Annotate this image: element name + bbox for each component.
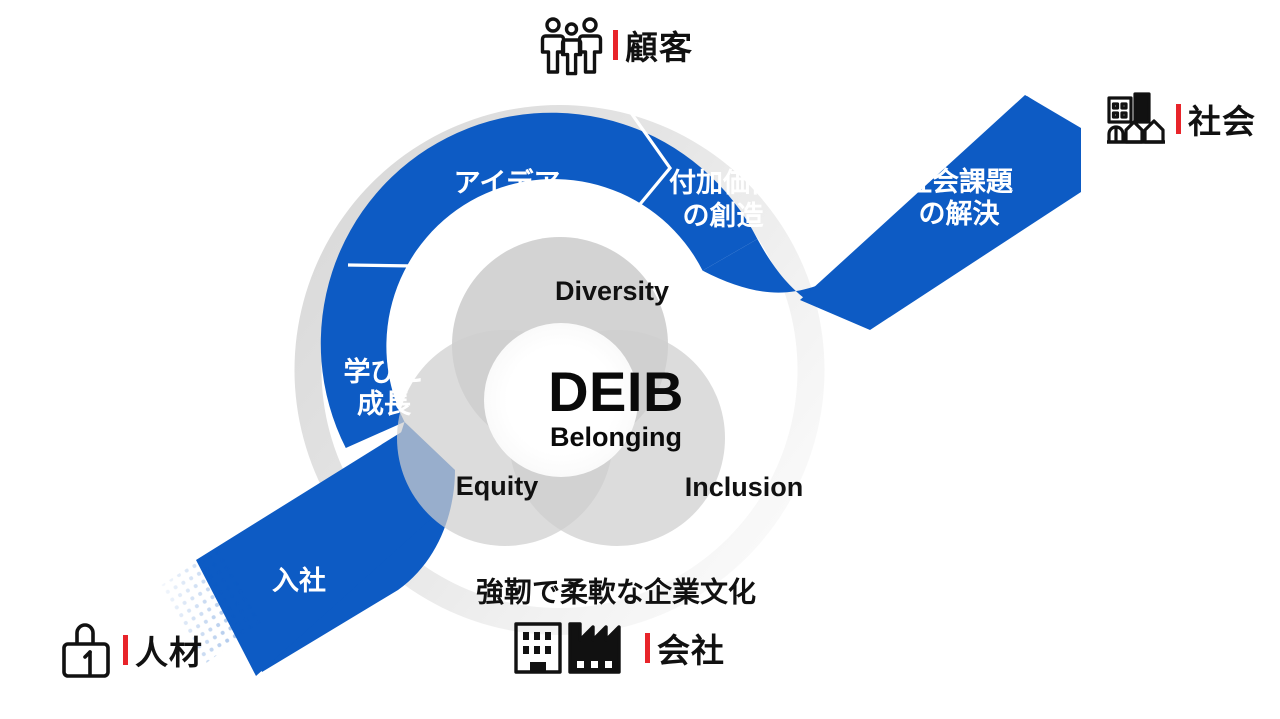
flow-label-shakai-2: の解決 xyxy=(919,199,1001,229)
stakeholder-label-kokyaku: 顧客 xyxy=(625,21,693,69)
flow-label-shakai-1: 社会課題 xyxy=(905,166,1014,197)
diagram-graphics: 入社 学びと 成長 アイデア 提案 付加価値 の創造 社会課題 の解決 Dive… xyxy=(0,0,1280,719)
red-accent-bar xyxy=(613,30,618,60)
flow-label-manabi-2: 成長 xyxy=(357,389,412,419)
flow-label-fukakachi-2: の創造 xyxy=(683,201,764,231)
red-accent-bar xyxy=(123,635,128,665)
stakeholder-jinzai: 人材 xyxy=(60,622,203,678)
people-group-icon xyxy=(540,14,604,76)
stakeholder-label-shakai: 社会 xyxy=(1188,95,1256,143)
diagram-canvas: 入社 学びと 成長 アイデア 提案 付加価値 の創造 社会課題 の解決 Dive… xyxy=(0,0,1280,719)
building-factory-icon xyxy=(512,620,636,676)
stakeholder-label-jinzai: 人材 xyxy=(135,626,203,674)
flow-label-fukakachi-1: 付加価値 xyxy=(669,168,777,198)
flow-label-nyusha: 入社 xyxy=(272,565,326,596)
stakeholder-kaisha: 会社 xyxy=(512,620,725,676)
venn-label-equity: Equity xyxy=(456,471,539,501)
red-accent-bar xyxy=(645,633,650,663)
red-accent-bar xyxy=(1176,104,1181,134)
flow-label-manabi-1: 学びと xyxy=(344,356,425,387)
core-title-deib: DEIB xyxy=(548,360,684,423)
core-subtitle-belonging: Belonging xyxy=(550,422,682,452)
person-icon xyxy=(60,622,114,678)
culture-caption: 強靭で柔軟な企業文化 xyxy=(476,575,756,607)
stakeholder-label-kaisha: 会社 xyxy=(657,624,725,672)
flow-label-idea-2: 提案 xyxy=(480,200,535,231)
stakeholder-shakai: 社会 xyxy=(1105,92,1256,146)
venn-label-diversity: Diversity xyxy=(555,276,669,306)
stakeholder-kokyaku: 顧客 xyxy=(540,14,693,76)
flow-label-idea-1: アイデア xyxy=(454,167,561,198)
cityscape-icon xyxy=(1105,92,1167,146)
venn-label-inclusion: Inclusion xyxy=(685,472,804,502)
